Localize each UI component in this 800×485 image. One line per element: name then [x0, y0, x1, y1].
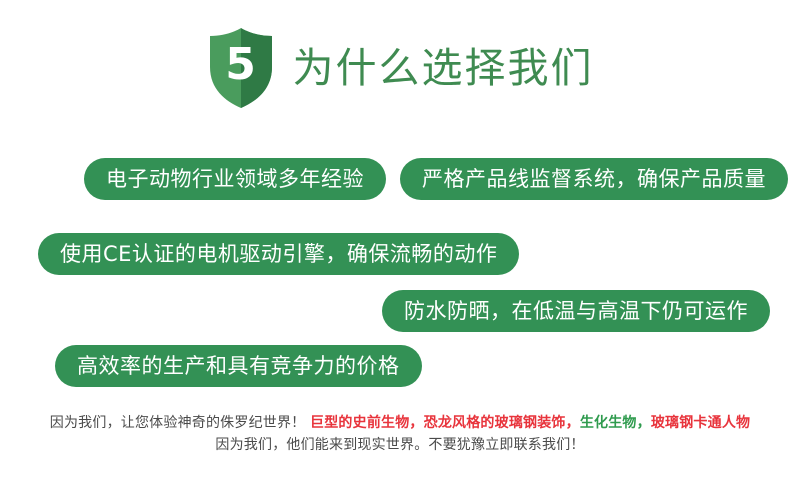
footer-segment-4: 玻璃钢卡通人物: [651, 415, 750, 431]
footer-segment-2: 巨型的史前生物，恐龙风格的玻璃钢装饰，: [310, 415, 580, 431]
feature-pill-1: 电子动物行业领域多年经验: [84, 158, 386, 200]
badge-number: 5: [207, 27, 275, 109]
feature-pill-4: 防水防晒，在低温与高温下仍可运作: [382, 290, 770, 332]
section-header: 5 为什么选择我们: [0, 22, 800, 114]
footer-text: 因为我们，让您体验神奇的侏罗纪世界！ 巨型的史前生物，恐龙风格的玻璃钢装饰，生化…: [0, 412, 800, 456]
footer-line-2: 因为我们，他们能来到现实世界。不要犹豫立即联系我们！: [0, 434, 800, 456]
footer-segment-1: 因为我们，他们能来到现实世界。不要犹豫立即联系我们！: [215, 437, 584, 453]
feature-pill-5: 高效率的生产和具有竞争力的价格: [55, 345, 422, 387]
shield-icon: 5: [207, 27, 275, 109]
feature-pill-3: 使用CE认证的电机驱动引擎，确保流畅的动作: [38, 233, 519, 275]
footer-line-1: 因为我们，让您体验神奇的侏罗纪世界！ 巨型的史前生物，恐龙风格的玻璃钢装饰，生化…: [0, 412, 800, 434]
footer-segment-1: 因为我们，让您体验神奇的侏罗纪世界！: [50, 415, 310, 431]
page-title: 为什么选择我们: [293, 48, 594, 89]
feature-pill-2: 严格产品线监督系统，确保产品质量: [400, 158, 788, 200]
footer-segment-3: 生化生物，: [580, 415, 651, 431]
promo-banner: 5 为什么选择我们 电子动物行业领域多年经验 严格产品线监督系统，确保产品质量 …: [0, 0, 800, 485]
